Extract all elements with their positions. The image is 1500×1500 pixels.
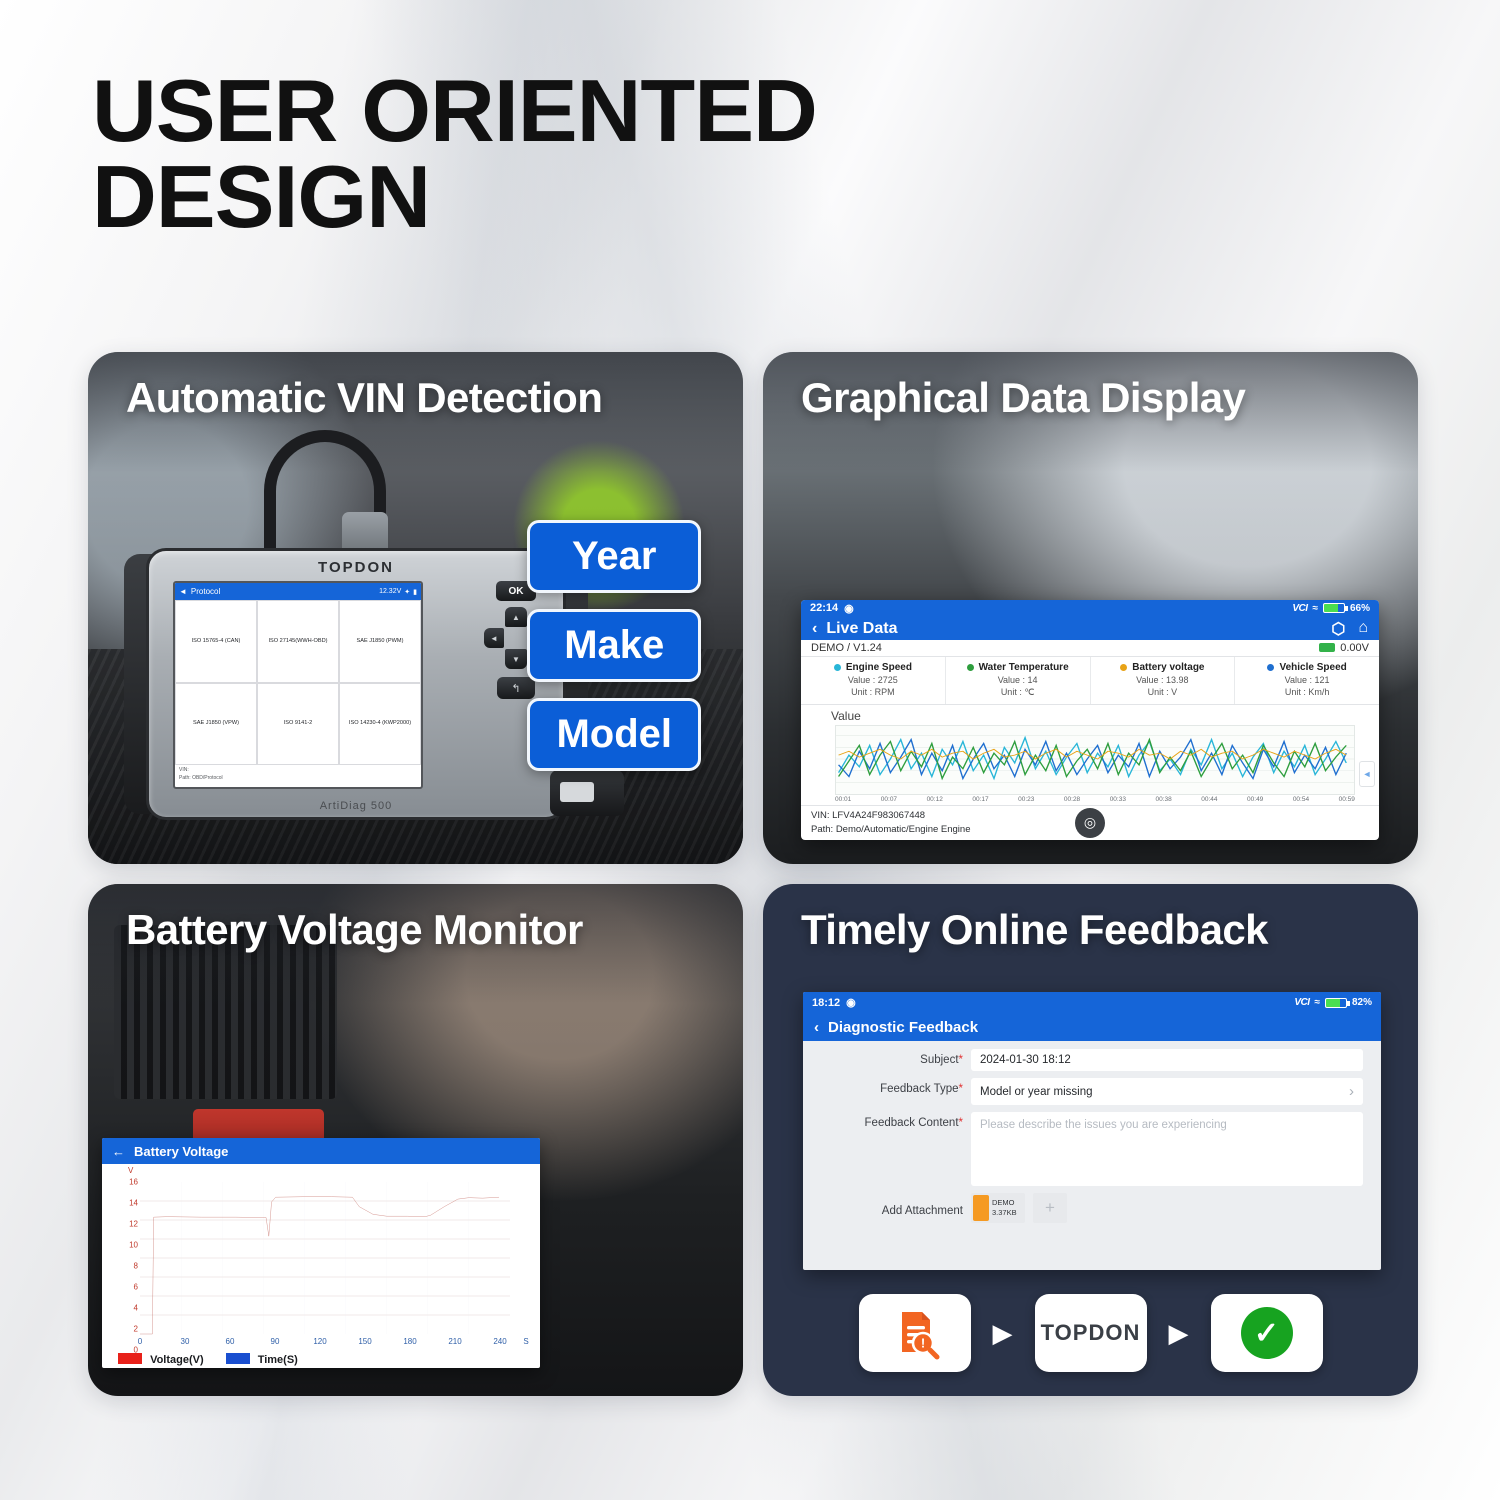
legend-swatch [226,1353,250,1364]
x-tick: 180 [403,1337,416,1346]
card-automatic-vin-detection: Automatic VIN Detection TOPDON ArtiDiag … [88,352,743,864]
pid-value: Value : 121 [1239,675,1375,685]
svg-text:!: ! [920,1336,924,1351]
badge-year: Year [527,520,701,593]
pid-name: Water Temperature [979,662,1069,673]
device-screen-title: Protocol [191,587,220,596]
flow-arrow-icon: ▶ [993,1320,1013,1346]
battery-screen-title: Battery Voltage [134,1144,228,1159]
badge-model: Model [527,698,701,771]
pid-name: Engine Speed [846,662,912,673]
vci-label: VCI [1294,997,1309,1008]
protocol-grid: ISO 15765-4 (CAN) ISO 27145(WWH-OBD) SAE… [175,600,421,765]
pid-card[interactable]: Vehicle Speed Value : 121 Unit : Km/h [1235,657,1379,704]
flow-arrow-icon: ▶ [1169,1320,1189,1346]
card-title-feedback: Timely Online Feedback [801,906,1398,954]
y-tick: 10 [116,1241,138,1250]
x-tick: 210 [448,1337,461,1346]
legend-label: Voltage(V) [150,1354,204,1366]
record-icon: ◉ [844,602,854,615]
collapse-panel-button[interactable]: ◄ [1359,761,1375,787]
series-color-dot [1267,664,1274,671]
battery-icon [1323,603,1345,613]
device-model: ArtiDiag 500 [149,800,563,812]
attachment-size: 3.37KB [992,1208,1017,1217]
feedback-type-label: Feedback Type* [813,1078,963,1095]
subheader-right: 0.00V [1319,642,1369,654]
device-status-bar: ◄ Protocol 12.32V ✦ ▮ [175,583,421,600]
back-chevron-icon[interactable]: ‹ [814,1019,819,1036]
nav-title: Diagnostic Feedback [828,1019,978,1036]
legend-entry-time: Time(S) [226,1353,298,1366]
pid-unit: Unit : Km/h [1239,687,1375,697]
report-issue-icon: ! [888,1306,942,1360]
artidiag-device: TOPDON ArtiDiag 500 ◄ Protocol 12.32V ✦ … [146,548,566,820]
add-attachment-row: Add Attachment DEMO 3.37KB + [813,1193,1363,1223]
nav-icons: ⬡ ⌂ [1331,619,1368,639]
subject-input[interactable]: 2024-01-30 18:12 [971,1049,1363,1071]
dpad-left-button[interactable]: ◄ [484,628,504,648]
pid-unit: Unit : RPM [805,687,941,697]
record-icon: ◉ [846,996,856,1009]
flow-step-report: ! [859,1294,971,1372]
flow-step-success: ✓ [1211,1294,1323,1372]
feedback-form: Subject* 2024-01-30 18:12 Feedback Type*… [803,1041,1381,1270]
card-title-vin: Automatic VIN Detection [126,374,723,422]
wifi-icon: ≈ [1314,997,1320,1008]
legend-swatch [118,1353,142,1364]
tablet-nav-bar: ‹ Live Data ⬡ ⌂ [801,617,1379,640]
device-voltage: 12.32V [379,588,401,595]
dpad-down-button[interactable]: ▼ [505,649,527,669]
back-arrow-icon[interactable]: ← [112,1144,125,1159]
pid-unit: Unit : ℃ [950,687,1086,698]
x-tick: 00:17 [972,796,988,803]
battery-icon: ▮ [413,588,417,596]
status-battery-percent: 66% [1350,603,1370,614]
series-color-dot [967,664,974,671]
pid-card[interactable]: Battery voltage Value : 13.98 Unit : V [1091,657,1236,704]
x-tick: 00:28 [1064,796,1080,803]
battery-screen-header: ← Battery Voltage [102,1138,540,1164]
live-voltage: 0.00V [1340,642,1369,654]
x-tick: 00:12 [927,796,943,803]
device-screen: ◄ Protocol 12.32V ✦ ▮ ISO 15765-4 (CAN) … [173,581,423,789]
card-timely-online-feedback: Timely Online Feedback 18:12 ◉ VCI ≈ 82%… [763,884,1418,1396]
battery-icon [1325,998,1347,1008]
pid-card[interactable]: Engine Speed Value : 2725 Unit : RPM [801,657,946,704]
subject-label: Subject* [813,1049,963,1066]
x-tick: 00:23 [1018,796,1034,803]
y-tick: 16 [116,1178,138,1187]
x-tick: 120 [313,1337,326,1346]
feedback-content-row: Feedback Content* Please describe the is… [813,1112,1363,1186]
pid-name-row: Engine Speed [805,662,941,673]
badge-make: Make [527,609,701,682]
battery-chart-plot [140,1182,510,1334]
feedback-type-row: Feedback Type* Model or year missing [813,1078,1363,1105]
y-tick: 14 [116,1199,138,1208]
x-tick: 00:44 [1201,796,1217,803]
mini-battery-icon [1319,643,1335,652]
attachment-name: DEMO [992,1198,1015,1207]
status-time: 18:12 [812,997,840,1009]
pid-unit: Unit : V [1095,687,1231,697]
protocol-cell[interactable]: SAE J1850 (PWM) [339,600,421,683]
page-title: USER ORIENTED DESIGN [92,68,817,240]
headline-line-2: DESIGN [92,154,817,240]
file-icon [973,1195,989,1221]
pid-name-row: Battery voltage [1095,662,1231,673]
vci-label: VCI [1292,603,1307,614]
device-footer-vin: VIN: [179,767,417,775]
back-arrow-icon[interactable]: ◄ [179,587,187,596]
package-icon[interactable]: ⬡ [1331,619,1345,639]
live-data-svg [836,726,1354,794]
x-tick: 00:49 [1247,796,1263,803]
x-tick: 240 [493,1337,506,1346]
x-tick: 00:33 [1110,796,1126,803]
y-tick: 4 [116,1304,138,1313]
y-tick: 12 [116,1220,138,1229]
attachment-meta: DEMO 3.37KB [992,1198,1017,1218]
legend-entry-voltage: Voltage(V) [118,1353,204,1366]
pid-summary-row: Engine Speed Value : 2725 Unit : RPM Wat… [801,657,1379,705]
series-color-dot [1120,664,1127,671]
year-make-model-badges: Year Make Model [527,520,701,771]
topdon-logo: TOPDON [1041,1320,1141,1346]
feedback-flow-diagram: ! ▶ TOPDON ▶ ✓ [813,1292,1368,1374]
live-data-chart: Value 00:01 [801,705,1379,805]
tablet-status-bar: 22:14 ◉ VCI ≈ 66% [801,600,1379,617]
pid-value: Value : 2725 [805,675,941,685]
add-attachment-label: Add Attachment [813,1200,963,1217]
dpad-up-button[interactable]: ▲ [505,607,527,627]
attachment-thumbnail[interactable]: DEMO 3.37KB [971,1193,1025,1223]
feedback-type-select[interactable]: Model or year missing [971,1078,1363,1105]
device-brand: TOPDON [149,559,563,576]
tablet-footer: VIN: LFV4A24F983067448 Path: Demo/Automa… [801,805,1379,841]
flow-step-topdon: TOPDON [1035,1294,1147,1372]
protocol-cell[interactable]: SAE J1850 (VPW) [175,683,257,766]
protocol-cell[interactable]: ISO 14230-4 (KWP2000) [339,683,421,766]
pid-value: Value : 14 [950,675,1086,685]
chart-plot [835,725,1355,795]
live-data-tablet-screen: 22:14 ◉ VCI ≈ 66% ‹ Live Data ⬡ ⌂ DEMO /… [801,600,1379,840]
card-title-battery: Battery Voltage Monitor [126,906,723,954]
pid-name-row: Water Temperature [950,662,1086,673]
x-tick: 90 [271,1337,280,1346]
home-icon[interactable]: ⌂ [1358,619,1368,639]
back-chevron-icon[interactable]: ‹ [812,620,817,638]
protocol-cell[interactable]: ISO 27145(WWH-OBD) [257,600,339,683]
x-tick: 30 [181,1337,190,1346]
check-circle-icon: ✓ [1241,1307,1293,1359]
nav-title: Live Data [826,620,897,638]
add-attachment-button[interactable]: + [1033,1193,1067,1223]
feedback-status-bar: 18:12 ◉ VCI ≈ 82% [803,992,1381,1013]
status-time: 22:14 [810,602,838,614]
protocol-cell[interactable]: ISO 9141-2 [257,683,339,766]
x-tick: 00:54 [1293,796,1309,803]
y-tick: 2 [116,1325,138,1334]
obd-connector [550,770,624,816]
chart-axis-label: Value [831,709,1371,723]
diagnostic-feedback-screen: 18:12 ◉ VCI ≈ 82% ‹ Diagnostic Feedback … [803,992,1381,1270]
pid-name: Vehicle Speed [1279,662,1346,673]
x-tick: 00:01 [835,796,851,803]
status-right: VCI ≈ 66% [1292,603,1370,614]
demo-version-label: DEMO / V1.24 [811,642,882,654]
y-tick: 6 [116,1283,138,1292]
feedback-content-label: Feedback Content* [813,1112,963,1129]
wifi-icon: ≈ [1312,603,1318,614]
battery-voltage-svg [140,1182,510,1334]
protocol-cell[interactable]: ISO 15765-4 (CAN) [175,600,257,683]
battery-chart-body: V 16 14 12 10 8 6 4 2 0 [102,1164,540,1368]
pid-value: Value : 13.98 [1095,675,1231,685]
x-tick: 60 [226,1337,235,1346]
x-axis-unit: S [523,1337,528,1346]
card-battery-voltage-monitor: Battery Voltage Monitor ← Battery Voltag… [88,884,743,1396]
x-tick: 00:07 [881,796,897,803]
status-right: VCI ≈ 82% [1294,997,1372,1008]
legend-label: Time(S) [258,1354,298,1366]
pid-name: Battery voltage [1132,662,1204,673]
status-battery-percent: 82% [1352,997,1372,1008]
y-axis-unit: V [128,1166,133,1175]
feature-card-grid: Automatic VIN Detection TOPDON ArtiDiag … [88,352,1418,1412]
pid-card[interactable]: Water Temperature Value : 14 Unit : ℃ [946,657,1091,704]
battery-voltage-screen: ← Battery Voltage V 16 14 12 10 8 6 4 2 … [102,1138,540,1368]
y-tick: 8 [116,1262,138,1271]
feedback-nav-bar: ‹ Diagnostic Feedback [803,1013,1381,1041]
x-tick: 00:59 [1339,796,1355,803]
x-tick: 150 [358,1337,371,1346]
headline-line-1: USER ORIENTED [92,61,817,160]
camera-icon[interactable]: ◎ [1075,808,1105,838]
subject-row: Subject* 2024-01-30 18:12 [813,1049,1363,1071]
device-footer-path: Path: OBD/Protocol [179,775,417,783]
card-title-graph: Graphical Data Display [801,374,1398,422]
x-tick: 0 [138,1337,142,1346]
chart-x-ticks: 00:01 00:07 00:12 00:17 00:23 00:28 00:3… [835,796,1355,803]
bluetooth-icon: ✦ [404,588,410,596]
tablet-subheader: DEMO / V1.24 0.00V [801,640,1379,656]
pid-name-row: Vehicle Speed [1239,662,1375,673]
feedback-content-textarea[interactable]: Please describe the issues you are exper… [971,1112,1363,1186]
x-tick: 00:38 [1155,796,1171,803]
device-body: TOPDON ArtiDiag 500 ◄ Protocol 12.32V ✦ … [146,548,566,820]
device-status-right: 12.32V ✦ ▮ [379,588,417,596]
battery-chart-legend: Voltage(V) Time(S) [118,1353,298,1366]
device-screen-footer: VIN: Path: OBD/Protocol [175,765,421,787]
series-color-dot [834,664,841,671]
card-graphical-data-display: Graphical Data Display 22:14 ◉ VCI ≈ 66%… [763,352,1418,864]
